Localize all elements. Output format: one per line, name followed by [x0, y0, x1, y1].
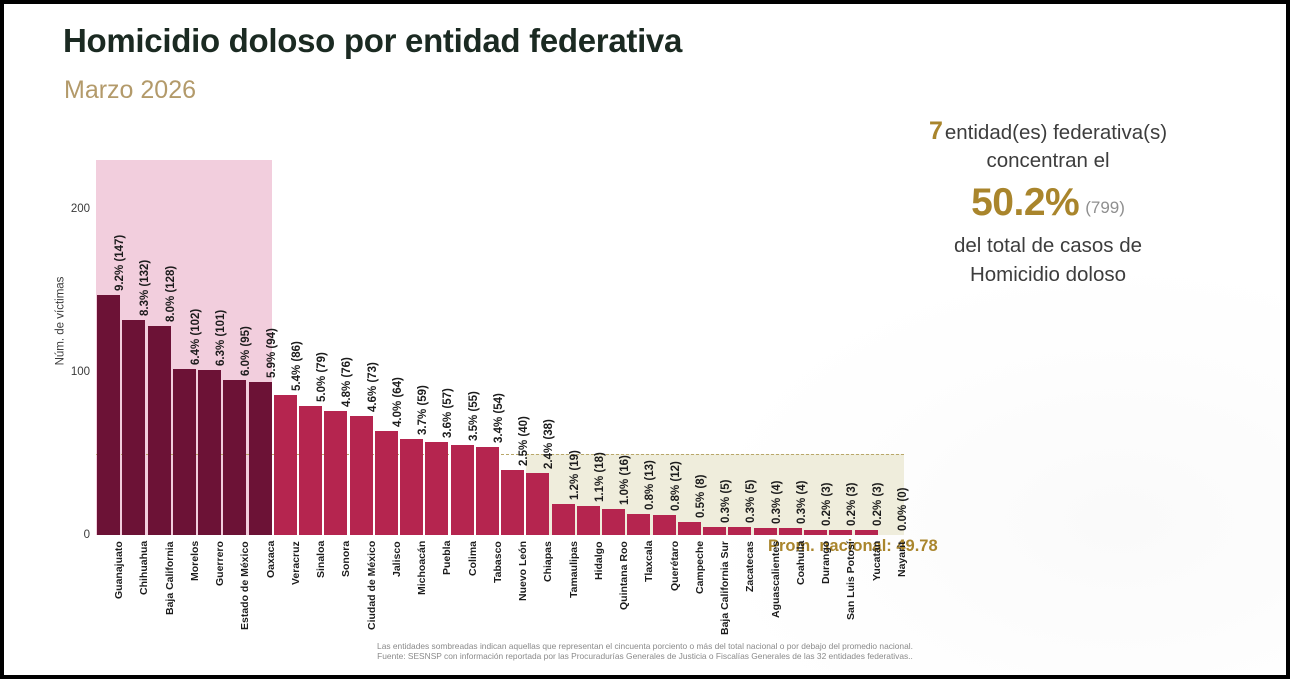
bar-value-label: 2.5% (40) — [518, 416, 530, 466]
bar[interactable] — [223, 380, 246, 535]
bar-value-label: 5.0% (79) — [316, 352, 328, 402]
summary-line-entities: 7entidad(es) federativa(s) — [862, 118, 1234, 146]
x-axis-category: Hidalgo — [593, 542, 605, 581]
x-axis-category: Querétaro — [669, 541, 681, 591]
bar[interactable] — [324, 411, 347, 535]
x-axis-category: Estado de México — [239, 541, 251, 630]
x-axis-category: Aguascalientes — [770, 541, 782, 618]
summary-panel: 7entidad(es) federativa(s) concentran el… — [862, 118, 1234, 289]
x-axis-category: Coahuila — [795, 541, 807, 585]
bar[interactable] — [375, 431, 398, 535]
x-axis-category: Chihuahua — [138, 541, 150, 595]
letterbox-top — [0, 0, 1290, 4]
bar[interactable] — [350, 416, 373, 535]
bar-value-label: 0.2% (3) — [821, 483, 833, 526]
bar[interactable] — [97, 295, 120, 535]
bar[interactable] — [501, 470, 524, 535]
plot-area: 9.2% (147)8.3% (132)8.0% (128)6.4% (102)… — [96, 160, 904, 535]
bar-value-label: 1.1% (18) — [594, 452, 606, 502]
x-axis-category: Baja California Sur — [719, 541, 731, 635]
x-axis-category: Quintana Roo — [618, 541, 630, 610]
bar[interactable] — [425, 442, 448, 535]
summary-line-total: del total de casos de — [862, 231, 1234, 260]
footnote-line-2: Fuente: SESNSP con información reportada… — [0, 651, 1290, 661]
x-axis-category: Colima — [467, 541, 479, 576]
bar[interactable] — [728, 527, 751, 535]
y-axis: 0100200 — [34, 160, 94, 535]
bar[interactable] — [627, 514, 650, 535]
x-axis-category: Nayarit — [896, 541, 908, 577]
x-axis-category: Zacatecas — [744, 541, 756, 592]
bar-value-label: 0.5% (8) — [695, 474, 707, 517]
bar-chart: Núm. de víctimas 0100200 9.2% (147)8.3% … — [96, 160, 904, 535]
bar[interactable] — [274, 395, 297, 535]
bar[interactable] — [855, 530, 878, 535]
x-axis-category: Baja California — [164, 541, 176, 615]
bar-value-label: 3.4% (54) — [493, 393, 505, 443]
bar[interactable] — [577, 506, 600, 535]
x-axis-category: Michoacán — [416, 541, 428, 595]
bar-value-label: 0.0% (0) — [897, 488, 909, 531]
bar-value-label: 2.4% (38) — [543, 419, 555, 469]
summary-percent: 50.2% — [971, 181, 1079, 224]
x-axis-category: Sonora — [340, 541, 352, 577]
bar-value-label: 0.3% (4) — [771, 481, 783, 524]
bar-value-label: 6.0% (95) — [240, 326, 252, 376]
bar[interactable] — [804, 530, 827, 535]
x-axis-category: Campeche — [694, 541, 706, 594]
x-axis-category: Ciudad de México — [366, 541, 378, 630]
summary-percent-row: 50.2%(799) — [862, 183, 1234, 222]
bar-value-label: 0.2% (3) — [872, 483, 884, 526]
page-subtitle: Marzo 2026 — [64, 76, 196, 105]
bar-value-label: 0.3% (5) — [720, 479, 732, 522]
y-axis-tick: 200 — [71, 203, 90, 215]
footnote-line-1: Las entidades sombreadas indican aquella… — [0, 641, 1290, 651]
bar[interactable] — [779, 528, 802, 535]
bar-value-label: 6.4% (102) — [190, 308, 202, 364]
x-axis-category: Veracruz — [290, 541, 302, 585]
summary-entity-text: entidad(es) federativa(s) — [945, 121, 1167, 144]
bar-value-label: 0.2% (3) — [846, 483, 858, 526]
x-axis-category: San Luis Potosí — [845, 541, 857, 620]
bar-value-label: 0.8% (12) — [670, 462, 682, 512]
bar-value-label: 8.0% (128) — [165, 266, 177, 322]
bar-value-label: 4.6% (73) — [367, 362, 379, 412]
bar[interactable] — [754, 528, 777, 535]
letterbox-bottom — [0, 675, 1290, 679]
x-axis-category: Sinaloa — [315, 541, 327, 578]
x-axis-category: Oaxaca — [265, 541, 277, 578]
x-axis-category: Chiapas — [542, 541, 554, 582]
bar-value-label: 5.4% (86) — [291, 341, 303, 391]
summary-percent-count: (799) — [1085, 198, 1125, 217]
slide-canvas: Homicidio doloso por entidad federativa … — [0, 0, 1290, 679]
bar-value-label: 1.0% (16) — [619, 455, 631, 505]
x-axis-category: Guanajuato — [113, 541, 125, 599]
bar-value-label: 0.3% (5) — [745, 479, 757, 522]
summary-entity-count: 7 — [929, 117, 943, 145]
bar[interactable] — [122, 320, 145, 535]
page-title: Homicidio doloso por entidad federativa — [63, 22, 682, 60]
bar-value-label: 3.7% (59) — [417, 385, 429, 435]
bar[interactable] — [299, 406, 322, 535]
footnote: Las entidades sombreadas indican aquella… — [0, 641, 1290, 661]
x-axis-category: Guerrero — [214, 541, 226, 586]
letterbox-right — [1286, 0, 1290, 679]
x-axis-category: Tabasco — [492, 541, 504, 583]
letterbox-left — [0, 0, 4, 679]
bar-value-label: 9.2% (147) — [114, 235, 126, 291]
x-axis-category: Durango — [820, 541, 832, 584]
bar-value-label: 1.2% (19) — [569, 450, 581, 500]
bar-value-label: 3.5% (55) — [468, 391, 480, 441]
bar[interactable] — [552, 504, 575, 535]
bar[interactable] — [526, 473, 549, 535]
bar[interactable] — [451, 445, 474, 535]
x-axis-category: Morelos — [189, 541, 201, 581]
bar-value-label: 0.8% (13) — [644, 460, 656, 510]
bar[interactable] — [148, 326, 171, 535]
x-axis-category: Yucatán — [871, 541, 883, 581]
bar[interactable] — [400, 439, 423, 535]
x-axis-category: Tamaulipas — [568, 541, 580, 598]
x-axis-category: Jalisco — [391, 541, 403, 577]
x-axis-category: Nuevo León — [517, 541, 529, 601]
bar[interactable] — [249, 382, 272, 535]
bar-value-label: 4.0% (64) — [392, 377, 404, 427]
bar[interactable] — [198, 370, 221, 535]
bar[interactable] — [476, 447, 499, 535]
bar[interactable] — [602, 509, 625, 535]
bar-value-label: 3.6% (57) — [442, 388, 454, 438]
x-axis-category: Puebla — [441, 541, 453, 575]
bar[interactable] — [653, 515, 676, 535]
bar[interactable] — [829, 530, 852, 535]
summary-line-crime: Homicidio doloso — [862, 260, 1234, 289]
bar-value-label: 5.9% (94) — [266, 328, 278, 378]
y-axis-tick: 0 — [84, 529, 90, 541]
bar-value-label: 0.3% (4) — [796, 481, 808, 524]
bar[interactable] — [703, 527, 726, 535]
summary-line-concentran: concentran el — [862, 146, 1234, 175]
bar-value-label: 6.3% (101) — [215, 310, 227, 366]
x-axis-category: Tlaxcala — [643, 541, 655, 582]
bar-value-label: 4.8% (76) — [341, 357, 353, 407]
bar[interactable] — [678, 522, 701, 535]
y-axis-tick: 100 — [71, 366, 90, 378]
bar[interactable] — [173, 369, 196, 535]
bar-value-label: 8.3% (132) — [139, 260, 151, 316]
